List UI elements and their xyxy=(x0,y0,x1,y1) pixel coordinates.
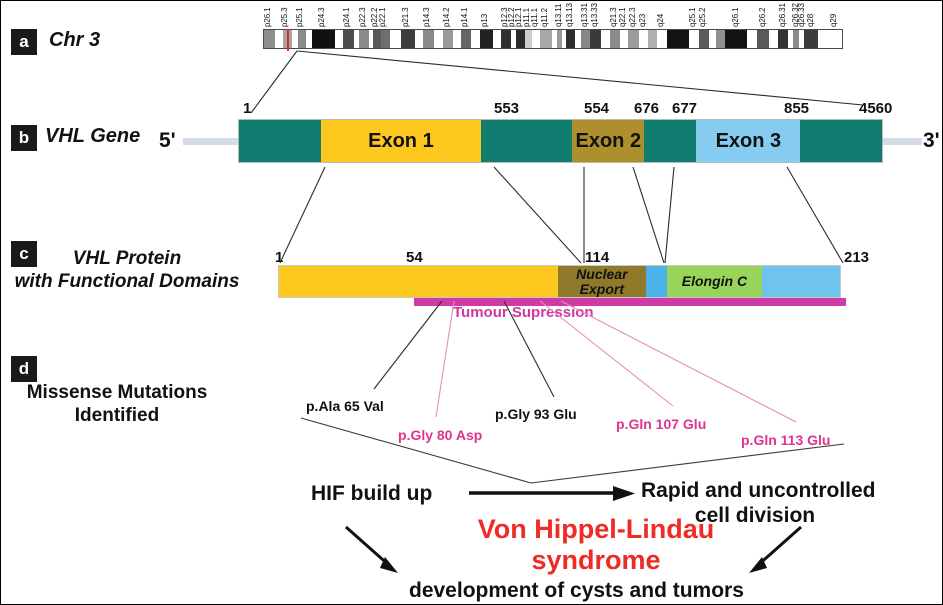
rapid-line1: Rapid and uncontrolled xyxy=(641,478,931,503)
mutation-label-2: p.Gly 93 Glu xyxy=(495,406,577,422)
mutation-label-1: p.Gly 80 Asp xyxy=(398,427,482,443)
development-cysts-tumors-label: development of cysts and tumors xyxy=(409,579,744,603)
mutation-label-3: p.Gln 107 Glu xyxy=(616,416,706,432)
vhl-syndrome-line1: Von Hippel-Lindau xyxy=(446,514,746,545)
hif-build-up-label: HIF build up xyxy=(311,482,432,506)
vhl-syndrome-line2: syndrome xyxy=(446,545,746,576)
mutation-label-0: p.Ala 65 Val xyxy=(306,398,384,414)
mutation-label-4: p.Gln 113 Glu xyxy=(741,432,830,448)
vhl-figure: a Chr 3 p26.1p25.3p25.1p24.3p24.1p22.3p2… xyxy=(0,0,943,605)
vhl-syndrome-label: Von Hippel-Lindau syndrome xyxy=(446,514,746,576)
